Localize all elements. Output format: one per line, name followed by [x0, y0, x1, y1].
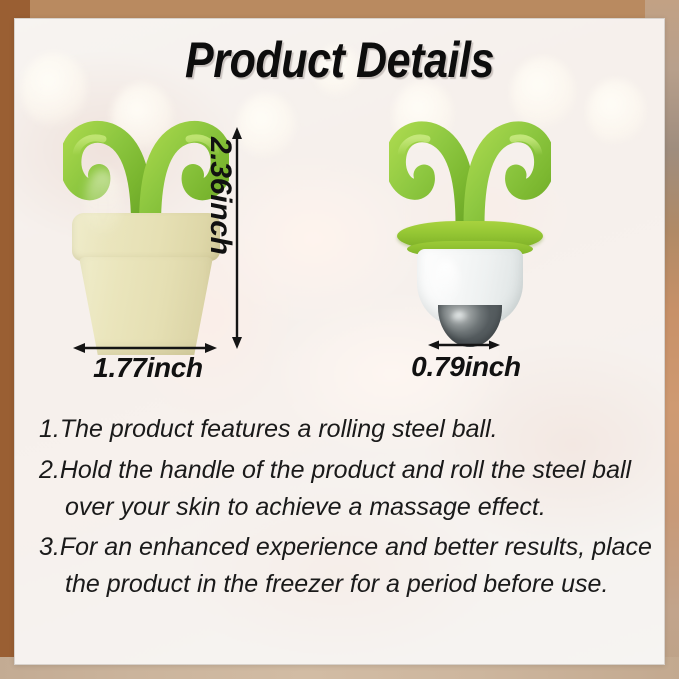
content-panel: Product Details — [14, 18, 665, 665]
width-dimension-label-right: 0.79inch — [393, 351, 539, 383]
list-item-text: The product features a rolling steel bal… — [60, 415, 498, 443]
height-dimension-label: 2.36inch — [203, 137, 237, 255]
list-item: 1.The product features a rolling steel b… — [39, 411, 663, 448]
green-sprout-handle-icon — [389, 119, 551, 231]
width-dimension-label-left: 1.77inch — [73, 352, 223, 384]
steel-ball-highlight — [451, 311, 469, 323]
product-image-right — [389, 119, 551, 349]
list-item: 2.Hold the handle of the product and rol… — [39, 452, 663, 526]
list-item-number: 1. — [39, 415, 60, 443]
pot-highlight — [85, 169, 121, 239]
list-item-number: 3. — [39, 533, 60, 561]
list-item-text: Hold the handle of the product and roll … — [60, 456, 631, 521]
feature-list: 1.The product features a rolling steel b… — [39, 411, 663, 607]
list-item: 3.For an enhanced experience and better … — [39, 529, 663, 603]
product-details-infographic: Product Details — [0, 0, 679, 679]
cup-highlight — [433, 259, 459, 307]
list-item-number: 2. — [39, 456, 60, 484]
page-title: Product Details — [60, 31, 618, 89]
list-item-text: For an enhanced experience and better re… — [60, 533, 652, 598]
